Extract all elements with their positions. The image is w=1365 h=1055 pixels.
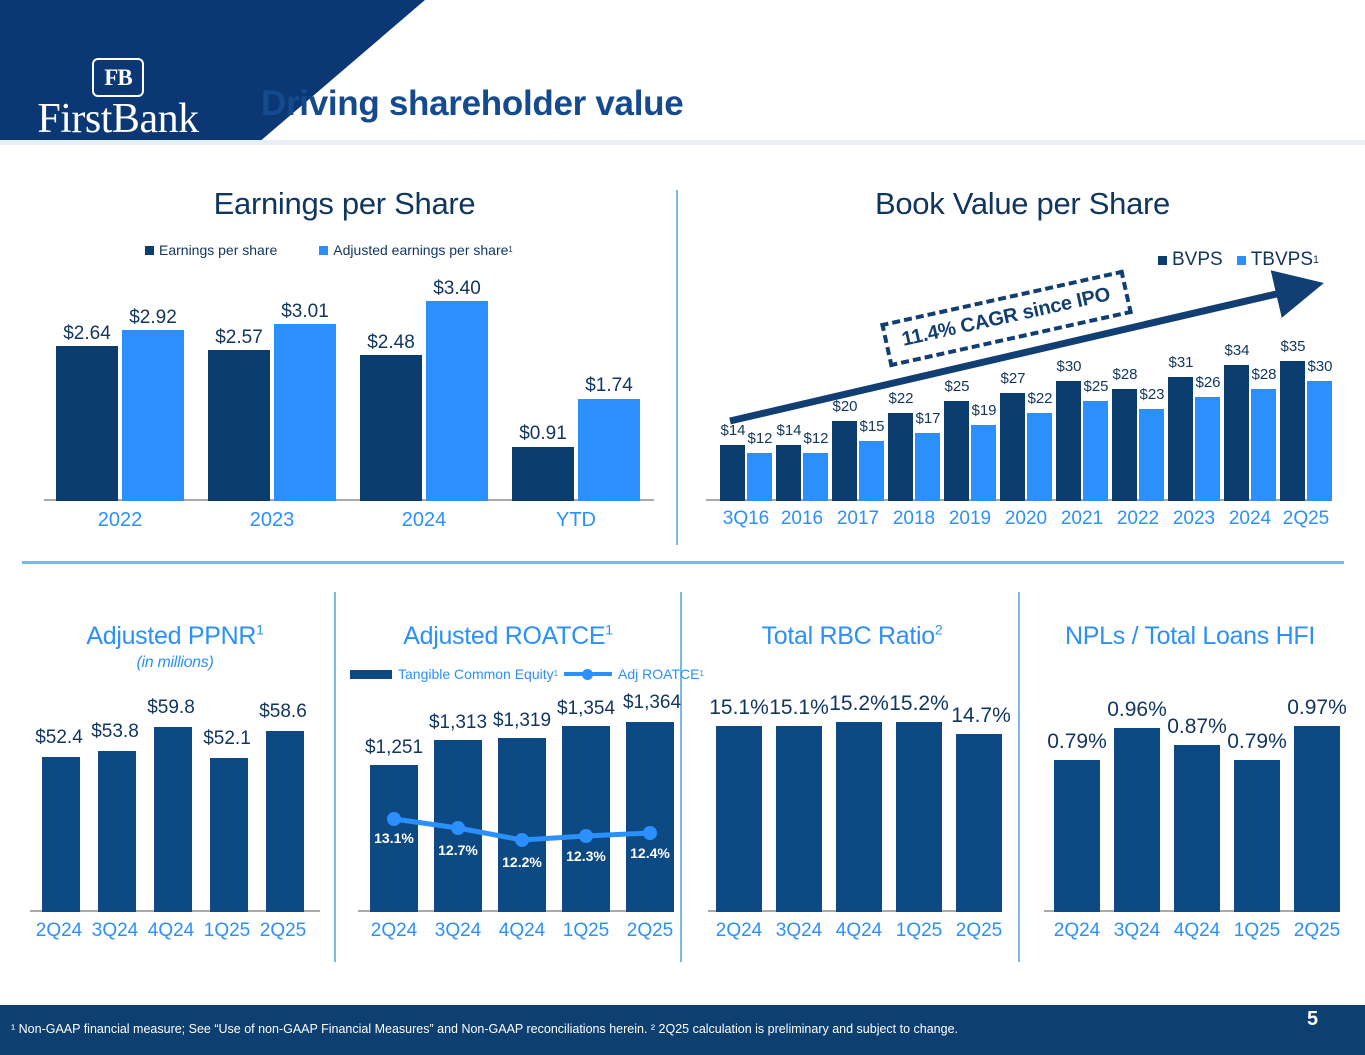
npl-value-2Q25: 0.97% <box>1276 696 1358 720</box>
ppnr-chart-subtitle: (in millions) <box>20 654 330 672</box>
bvps-bar-2020-tbvps <box>1027 413 1052 501</box>
footnote-text: ¹ Non-GAAP financial measure; See “Use o… <box>11 1022 958 1036</box>
header-rule <box>0 140 1365 145</box>
rbc-bar-2Q24 <box>716 726 762 912</box>
eps-value-2023-eps: $2.57 <box>202 327 276 349</box>
roatce-xlabel-4Q24: 4Q24 <box>490 920 554 942</box>
npl-xlabel-1Q25: 1Q25 <box>1224 920 1290 942</box>
eps-plot: $2.64 $2.92 2022 $2.57 $3.01 2023 $2.48 … <box>44 301 654 501</box>
ppnr-title-text: Adjusted PPNR <box>86 622 256 650</box>
rbc-title-text: Total RBC Ratio <box>762 622 935 650</box>
roatce-chart-title: Adjusted ROATCE1 <box>348 622 668 651</box>
bvps-value-2023-tbvps: $26 <box>1187 374 1229 391</box>
npl-xlabel-4Q24: 4Q24 <box>1164 920 1230 942</box>
bvps-bar-2Q25-bvps <box>1280 361 1305 501</box>
logo-wordmark: FirstBank <box>18 98 218 140</box>
panel-total-rbc-ratio: Total RBC Ratio2 15.1% 2Q24 15.1% 3Q24 1… <box>694 622 1010 972</box>
ppnr-value-3Q24: $53.8 <box>84 721 146 743</box>
bvps-plot: 11.4% CAGR since IPO $14 $12 3Q16 $14 $1… <box>706 286 1326 501</box>
eps-bar-ytd-eps <box>512 447 574 501</box>
ppnr-xlabel-2Q25: 2Q25 <box>250 920 316 942</box>
bvps-value-2018-tbvps: $17 <box>907 410 949 427</box>
eps-chart-title: Earnings per Share <box>22 186 667 222</box>
bvps-legend-item-0: BVPS <box>1158 249 1223 271</box>
roatce-legend-item-1: Adj ROATCE 1 <box>558 666 704 682</box>
npl-value-2Q24: 0.79% <box>1036 730 1118 754</box>
eps-legend: Earnings per share Adjusted earnings per… <box>145 242 513 258</box>
bvps-bar-2Q25-tbvps <box>1307 381 1332 501</box>
legend-swatch-icon <box>319 246 328 255</box>
bvps-bar-2024-bvps <box>1224 365 1249 501</box>
roatce-legend-label-1: Adj ROATCE <box>618 666 699 682</box>
bvps-value-2020-tbvps: $22 <box>1019 390 1061 407</box>
rbc-plot: 15.1% 2Q24 15.1% 3Q24 15.2% 4Q24 15.2% 1… <box>708 694 998 912</box>
eps-value-2022-eps: $2.64 <box>50 323 124 345</box>
bvps-value-2Q25-tbvps: $30 <box>1299 358 1341 375</box>
ppnr-bar-4Q24 <box>154 727 192 912</box>
ppnr-value-2Q25: $58.6 <box>252 701 314 723</box>
rbc-bar-2Q25 <box>956 734 1002 912</box>
bvps-legend-label-0: BVPS <box>1172 249 1223 271</box>
rbc-bar-4Q24 <box>836 722 882 912</box>
bvps-bar-2023-bvps <box>1168 377 1193 501</box>
ppnr-bar-1Q25 <box>210 758 248 912</box>
rbc-chart-title: Total RBC Ratio2 <box>694 622 1010 651</box>
legend-swatch-icon <box>1237 256 1246 265</box>
roatce-legend-item-0: Tangible Common Equity 1 <box>350 666 558 682</box>
eps-legend-label-1: Adjusted earnings per share <box>333 242 508 258</box>
eps-value-2022-adj-eps: $2.92 <box>116 307 190 329</box>
roatce-xlabel-2Q25: 2Q25 <box>618 920 682 942</box>
page-title: Driving shareholder value <box>261 84 683 124</box>
rbc-value-2Q25: 14.7% <box>942 704 1020 728</box>
bvps-bar-2021-tbvps <box>1083 401 1108 501</box>
bvps-legend-item-1: TBVPS 1 <box>1237 249 1319 271</box>
eps-bar-2024-adj-eps <box>426 301 488 501</box>
npl-bar-4Q24 <box>1174 745 1220 912</box>
npl-plot: 0.79% 2Q24 0.96% 3Q24 0.87% 4Q24 0.79% 1… <box>1044 694 1336 912</box>
npl-xlabel-2Q24: 2Q24 <box>1044 920 1110 942</box>
eps-xlabel-ytd: YTD <box>529 509 623 532</box>
eps-bar-2024-eps <box>360 355 422 501</box>
page-number: 5 <box>1307 1008 1318 1031</box>
npl-bar-1Q25 <box>1234 760 1280 912</box>
bvps-bar-2022-bvps <box>1112 389 1137 501</box>
eps-xlabel-2024: 2024 <box>377 509 471 532</box>
bvps-bar-2018-tbvps <box>915 433 940 501</box>
ppnr-value-2Q24: $52.4 <box>28 727 90 749</box>
roatce-title-sup: 1 <box>605 622 613 638</box>
divider-top-center <box>676 190 678 545</box>
ppnr-chart-title: Adjusted PPNR1 <box>20 622 330 651</box>
rbc-xlabel-4Q24: 4Q24 <box>826 920 892 942</box>
roatce-legend: Tangible Common Equity 1 Adj ROATCE 1 <box>350 666 704 682</box>
bvps-xlabel-2Q25: 2Q25 <box>1272 508 1340 530</box>
npl-chart-title: NPLs / Total Loans HFI <box>1030 622 1350 651</box>
legend-line-icon <box>564 668 612 680</box>
bvps-bar-2021-bvps <box>1056 381 1081 501</box>
npl-bar-2Q25 <box>1294 726 1340 912</box>
bvps-value-2022-tbvps: $23 <box>1131 386 1173 403</box>
eps-value-2024-eps: $2.48 <box>354 332 428 354</box>
bvps-value-2Q25-bvps: $35 <box>1272 338 1314 355</box>
bvps-bar-3Q16-tbvps <box>747 453 772 501</box>
logo-mark-icon: FB <box>92 58 144 97</box>
rbc-xlabel-1Q25: 1Q25 <box>886 920 952 942</box>
legend-swatch-icon <box>1158 256 1167 265</box>
npl-bar-3Q24 <box>1114 728 1160 912</box>
panel-earnings-per-share: Earnings per Share Earnings per share Ad… <box>22 186 667 546</box>
bvps-value-2022-bvps: $28 <box>1104 366 1146 383</box>
ppnr-value-4Q24: $59.8 <box>140 697 202 719</box>
bvps-bar-2020-bvps <box>1000 393 1025 501</box>
legend-swatch-icon <box>145 246 154 255</box>
bvps-value-2024-tbvps: $28 <box>1243 366 1285 383</box>
bvps-bar-2016-bvps <box>776 445 801 501</box>
eps-bar-2022-adj-eps <box>122 330 184 501</box>
eps-bar-ytd-adj-eps <box>578 399 640 501</box>
bvps-value-2023-bvps: $31 <box>1160 354 1202 371</box>
bvps-bar-2023-tbvps <box>1195 397 1220 501</box>
slide-header: FB FirstBank Driving shareholder value <box>0 0 1365 143</box>
rbc-xlabel-2Q24: 2Q24 <box>706 920 772 942</box>
panel-adjusted-ppnr: Adjusted PPNR1 (in millions) $52.4 2Q24 … <box>20 622 330 972</box>
bvps-value-2024-bvps: $34 <box>1216 342 1258 359</box>
bvps-value-2020-bvps: $27 <box>992 370 1034 387</box>
eps-legend-item-1: Adjusted earnings per share 1 <box>319 242 512 258</box>
rbc-bar-1Q25 <box>896 722 942 912</box>
divider-bottom-1 <box>334 592 336 962</box>
roatce-title-text: Adjusted ROATCE <box>403 622 605 650</box>
roatce-xlabel-3Q24: 3Q24 <box>426 920 490 942</box>
eps-value-ytd-eps: $0.91 <box>506 423 580 445</box>
eps-bar-2022-eps <box>56 346 118 501</box>
ppnr-title-sup: 1 <box>256 622 264 638</box>
eps-legend-label-0: Earnings per share <box>159 242 277 258</box>
rbc-title-sup: 2 <box>935 622 943 638</box>
roatce-plot: $1,251 13.1% 2Q24 $1,313 12.7% 3Q24 $1,3… <box>358 702 658 912</box>
bvps-bar-2022-tbvps <box>1139 409 1164 501</box>
bvps-value-2019-tbvps: $19 <box>963 402 1005 419</box>
roatce-legend-label-0: Tangible Common Equity <box>398 666 554 682</box>
firstbank-logo: FB FirstBank <box>18 58 218 136</box>
bvps-bar-2016-tbvps <box>803 453 828 501</box>
rbc-xlabel-2Q25: 2Q25 <box>946 920 1012 942</box>
bvps-bar-2024-tbvps <box>1251 389 1276 501</box>
npl-xlabel-3Q24: 3Q24 <box>1104 920 1170 942</box>
bvps-value-2019-bvps: $25 <box>936 378 978 395</box>
eps-value-2023-adj-eps: $3.01 <box>268 301 342 323</box>
ppnr-bar-2Q25 <box>266 731 304 912</box>
bvps-chart-title: Book Value per Share <box>700 186 1345 222</box>
bvps-legend-label-1: TBVPS <box>1251 249 1313 271</box>
eps-xlabel-2022: 2022 <box>73 509 167 532</box>
roatce-xlabel-1Q25: 1Q25 <box>554 920 618 942</box>
bvps-bar-2017-tbvps <box>859 441 884 501</box>
bvps-value-2017-tbvps: $15 <box>851 418 893 435</box>
rbc-xlabel-3Q24: 3Q24 <box>766 920 832 942</box>
npl-xlabel-2Q25: 2Q25 <box>1284 920 1350 942</box>
roatce-line-series <box>358 702 688 912</box>
eps-xlabel-2023: 2023 <box>225 509 319 532</box>
bvps-value-2018-bvps: $22 <box>880 390 922 407</box>
eps-bar-2023-adj-eps <box>274 324 336 501</box>
npl-value-1Q25: 0.79% <box>1216 730 1298 754</box>
bvps-legend: BVPS TBVPS 1 <box>1158 249 1319 271</box>
divider-horizontal <box>22 561 1344 564</box>
eps-legend-item-0: Earnings per share <box>145 242 277 258</box>
ppnr-bar-2Q24 <box>42 757 80 912</box>
panel-adjusted-roatce: Adjusted ROATCE1 Tangible Common Equity … <box>348 622 668 972</box>
roatce-xlabel-2Q24: 2Q24 <box>362 920 426 942</box>
eps-value-ytd-adj-eps: $1.74 <box>572 375 646 397</box>
ppnr-value-1Q25: $52.1 <box>196 728 258 750</box>
eps-value-2024-adj-eps: $3.40 <box>420 278 494 300</box>
npl-bar-2Q24 <box>1054 760 1100 912</box>
bvps-bar-2019-tbvps <box>971 425 996 501</box>
legend-bar-icon <box>350 670 392 679</box>
ppnr-plot: $52.4 2Q24 $53.8 3Q24 $59.8 4Q24 $52.1 1… <box>30 694 320 912</box>
bvps-value-2016-tbvps: $12 <box>795 430 837 447</box>
panel-book-value-per-share: Book Value per Share BVPS TBVPS 1 11.4% … <box>700 186 1345 546</box>
eps-bar-2023-eps <box>208 350 270 501</box>
bvps-value-2017-bvps: $20 <box>824 398 866 415</box>
bvps-value-2021-bvps: $30 <box>1048 358 1090 375</box>
rbc-bar-3Q24 <box>776 726 822 912</box>
ppnr-bar-3Q24 <box>98 751 136 912</box>
divider-bottom-3 <box>1018 592 1020 962</box>
panel-npls-total-loans: NPLs / Total Loans HFI 0.79% 2Q24 0.96% … <box>1030 622 1350 972</box>
bvps-bar-3Q16-bvps <box>720 445 745 501</box>
